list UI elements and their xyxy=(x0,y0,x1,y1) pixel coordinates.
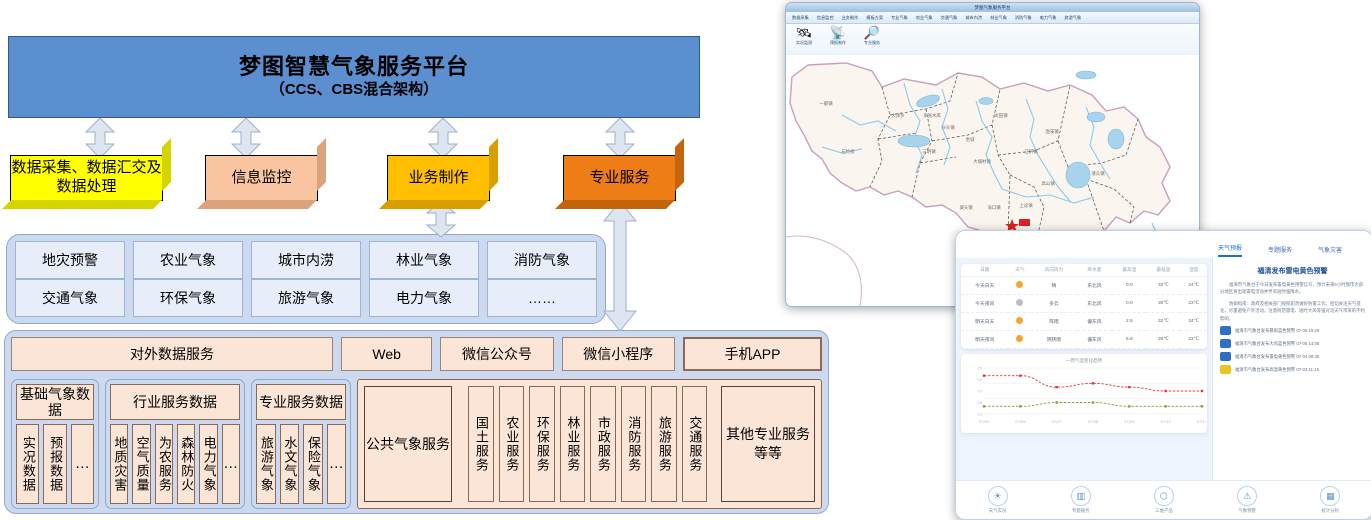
data-groups-row: 基础气象数据 实况数据 预报数据 … 行业服务数据 地质灾害 空气质量 为农服务… xyxy=(11,379,822,509)
nav-label: 气象预警 xyxy=(1238,508,1256,514)
tablet-left-column: 日期 天气 风向风力 降水量 最高温 最低温 湿度 今天白天 xyxy=(956,258,1212,481)
tab-special-service[interactable]: 专题服务 xyxy=(1268,245,1292,257)
satellite-icon: 🛰 xyxy=(796,26,813,39)
tablet-application-window[interactable]: 天气预报 专题服务 气象灾害 日期 天气 风向风力 降水量 最高温 xyxy=(955,230,1371,520)
rain-icon xyxy=(1016,317,1023,324)
service-cell[interactable]: 农业气象 xyxy=(133,241,243,279)
table-row[interactable]: 明天白天 阵雨 偏东风 2.5 32℃ 24℃ xyxy=(961,313,1207,331)
menu-item[interactable]: 业务制作 xyxy=(839,15,862,21)
column-header: 降水量 xyxy=(1077,264,1113,277)
cell-weather-icon xyxy=(1008,313,1031,331)
map-label: 沙头镇 xyxy=(941,124,955,131)
menu-item[interactable]: 消防气象 xyxy=(1012,15,1035,21)
nav-item-stats[interactable]: ▦ 统计分析 xyxy=(1320,486,1340,514)
data-group-industry: 行业服务数据 地质灾害 空气质量 为农服务 森林防火 电力气象 … xyxy=(105,379,245,509)
cell-weather: 阴转雨 xyxy=(1031,331,1076,349)
warning-list-item[interactable]: 福清市气象台发布雷电黄色预警 07-04 09:30 xyxy=(1220,352,1365,361)
data-group-professional: 专业服务数据 旅游气象 水文气象 保险气象 … xyxy=(251,379,351,509)
column-header: 最低温 xyxy=(1146,264,1180,277)
tab-weather-forecast[interactable]: 天气预报 xyxy=(1218,243,1242,257)
tablet-body: 日期 天气 风向风力 降水量 最高温 最低温 湿度 今天白天 xyxy=(956,258,1371,481)
cell-weather-icon xyxy=(1008,295,1031,313)
public-service-item[interactable]: 农业服务 xyxy=(499,386,525,502)
cell-low: 24℃ xyxy=(1180,277,1207,295)
service-cell[interactable]: 环保气象 xyxy=(133,279,243,317)
platform-title: 梦图智慧气象服务平台 xyxy=(239,54,469,79)
map-label: 上迳镇 xyxy=(1019,202,1033,209)
double-arrow-icon-4 xyxy=(601,118,639,158)
temperature-chart-card: 一周气温变化趋势 353229262307/0507/0607/0707/080… xyxy=(961,354,1207,433)
svg-text:32: 32 xyxy=(977,378,982,382)
toolbar-label: 专业服务 xyxy=(864,40,880,46)
svg-text:07/06: 07/06 xyxy=(1015,420,1026,424)
table-row[interactable]: 今天白天 晴 东北风 0.0 32℃ 24℃ xyxy=(961,277,1207,295)
cell-weather: 多云 xyxy=(1031,295,1076,313)
public-weather-service-box[interactable]: 公共气象服务 xyxy=(364,386,452,502)
svg-text:26: 26 xyxy=(977,401,982,405)
warning-badge-icon xyxy=(1220,365,1231,374)
map-window-titlebar: 梦图气象服务平台 xyxy=(786,3,1199,12)
channel-external-data-service[interactable]: 对外数据服务 xyxy=(11,337,333,371)
menu-item[interactable]: 林业气象 xyxy=(987,15,1010,21)
public-service-item[interactable]: 林业服务 xyxy=(560,386,586,502)
map-label: 东张水库 xyxy=(923,112,941,119)
cell-weather: 晴 xyxy=(1031,277,1076,295)
data-group-title: 专业服务数据 xyxy=(256,384,346,420)
cell-wind: 东北风 xyxy=(1077,295,1113,313)
tablet-tabbar: 天气预报 专题服务 气象灾害 xyxy=(956,231,1371,260)
service-domain-panel: 地灾预警 农业气象 城市内涝 林业气象 消防气象 交通气象 环保气象 旅游气象 … xyxy=(6,234,606,324)
alert-icon: ⚠ xyxy=(1237,486,1257,506)
data-item[interactable]: 预报数据 xyxy=(43,424,66,504)
public-service-item[interactable]: 旅游服务 xyxy=(651,386,677,502)
map-label: 海口镇 xyxy=(987,204,1001,211)
map-label: 龙田镇 xyxy=(994,112,1008,119)
warning-list-item[interactable]: 福清市气象台发布暴雨蓝色预警 07-05 16:20 xyxy=(1220,326,1365,335)
warning-list-item[interactable]: 福清市气象台发布高温黄色预警 07-03 11:15 xyxy=(1220,365,1365,374)
service-cell[interactable]: 城市内涝 xyxy=(251,241,361,279)
warning-panel: 福清发布雷电黄色预警 福清市气象台于今日发布雷电黄色预警信号，预计未来6小时我市… xyxy=(1212,258,1371,481)
warning-badge-icon xyxy=(1220,339,1231,348)
table-row[interactable]: 今天夜间 多云 东北风 0.0 30℃ 23℃ xyxy=(961,295,1207,313)
warning-item-text: 福清市气象台发布高温黄色预警 07-03 11:15 xyxy=(1235,367,1319,373)
toolbar-button-forecast[interactable]: 📡 预报制作 xyxy=(825,26,851,58)
radar-icon: 📡 xyxy=(830,26,846,39)
channel-row: 对外数据服务 Web 微信公众号 微信小程序 手机APP xyxy=(11,337,822,371)
data-item[interactable]: 森林防火 xyxy=(177,424,195,504)
map-label: 一都镇 xyxy=(819,100,833,107)
warning-list-item[interactable]: 福清市气象台发布大风蓝色预警 07-05 14:05 xyxy=(1220,339,1365,348)
nav-label: 统计分析 xyxy=(1322,508,1340,514)
column-header: 最高温 xyxy=(1112,264,1146,277)
map-label: 大埔村镇 xyxy=(973,158,991,165)
nav-label: 三维产品 xyxy=(1155,508,1173,514)
pillar-box-info-monitor[interactable]: 信息监控 xyxy=(205,155,318,201)
warning-paragraph: 防御指南：政府及相关部门按照职责做好防雷工作；密切关注天气变化，尽量避免户外活动… xyxy=(1220,300,1365,322)
forecast-table: 日期 天气 风向风力 降水量 最高温 最低温 湿度 今天白天 xyxy=(961,264,1207,349)
channel-web[interactable]: Web xyxy=(341,337,432,371)
warning-badge-icon xyxy=(1220,352,1231,361)
cell-date: 明天夜间 xyxy=(961,331,1008,349)
double-arrow-icon-1 xyxy=(81,118,119,158)
svg-text:23: 23 xyxy=(977,413,982,417)
nav-item-alert[interactable]: ⚠ 气象预警 xyxy=(1237,486,1257,514)
weather-sun-icon: ☀ xyxy=(988,486,1008,506)
data-item[interactable]: 旅游气象 xyxy=(256,424,276,504)
cell-precip: 0.0 xyxy=(1112,295,1146,313)
map-label: 三明镇 xyxy=(922,148,936,155)
menu-item[interactable]: 模板方案 xyxy=(863,15,886,21)
data-item[interactable]: 保险气象 xyxy=(303,424,323,504)
map-label: 石竹街 xyxy=(841,148,855,155)
warning-badge-icon xyxy=(1220,326,1231,335)
map-label: 大洋乡 xyxy=(891,112,904,119)
menu-item[interactable]: 电力气象 xyxy=(1037,15,1060,21)
menu-item[interactable]: 旅游气象 xyxy=(1061,15,1084,21)
svg-text:35: 35 xyxy=(977,367,982,371)
cell-wind: 偏东风 xyxy=(1077,313,1113,331)
forecast-table-card: 日期 天气 风向风力 降水量 最高温 最低温 湿度 今天白天 xyxy=(961,264,1207,349)
toolbar-label: 预报制作 xyxy=(830,40,846,46)
column-header: 日期 xyxy=(961,264,1008,277)
menu-item[interactable]: 信息监控 xyxy=(814,15,837,21)
menu-item[interactable]: 城市内涝 xyxy=(962,15,985,21)
double-arrow-icon-2 xyxy=(227,118,265,158)
public-service-item[interactable]: 市政服务 xyxy=(590,386,616,502)
data-item-more[interactable]: … xyxy=(327,424,347,504)
nav-item-weather[interactable]: ☀ 天气实况 xyxy=(988,486,1008,514)
pillar-label: 专业服务 xyxy=(589,169,649,188)
cloud-icon xyxy=(1016,299,1023,306)
map-label: 金城 xyxy=(966,136,975,143)
map-search-icon: 🔎 xyxy=(864,26,880,39)
pillar-label: 信息监控 xyxy=(231,169,291,188)
double-arrow-icon-3 xyxy=(424,118,462,158)
pillar-label: 业务制作 xyxy=(408,169,468,188)
cell-precip: 0.0 xyxy=(1112,277,1146,295)
service-cell[interactable]: 旅游气象 xyxy=(251,279,361,317)
tablet-bottom-nav: ☀ 天气实况 ▥ 专题服务 ⬡ 三维产品 ⚠ 气象预警 ▦ 统计分析 xyxy=(956,480,1371,519)
architecture-diagram: 梦图智慧气象服务平台 （CCS、CBS混合架构） 数据采集、数据汇交及数据处理 … xyxy=(0,0,840,520)
nav-item-3d[interactable]: ⬡ 三维产品 xyxy=(1154,486,1174,514)
public-service-item[interactable]: 环保服务 xyxy=(529,386,555,502)
map-label: 江阴镇 xyxy=(1024,148,1038,155)
pillar-box-data-collection[interactable]: 数据采集、数据汇交及数据处理 xyxy=(10,155,163,201)
cell-precip: 2.5 xyxy=(1112,313,1146,331)
cell-date: 今天夜间 xyxy=(961,295,1008,313)
nav-item-special[interactable]: ▥ 专题服务 xyxy=(1071,486,1091,514)
cell-high: 30℃ xyxy=(1146,295,1180,313)
data-group-items: 旅游气象 水文气象 保险气象 … xyxy=(256,424,346,504)
cell-low: 23℃ xyxy=(1180,331,1207,349)
service-cell[interactable]: 交通气象 xyxy=(15,279,125,317)
data-group-title: 基础气象数据 xyxy=(16,384,94,420)
platform-subtitle: （CCS、CBS混合架构） xyxy=(270,80,438,100)
service-row-1: 地灾预警 农业气象 城市内涝 林业气象 消防气象 xyxy=(15,241,597,279)
menu-item[interactable]: 交通气象 xyxy=(938,15,961,21)
cell-weather-icon xyxy=(1008,277,1031,295)
cell-high: 32℃ xyxy=(1146,313,1180,331)
toolbar-label: 实况监测 xyxy=(796,40,812,46)
data-group-title: 行业服务数据 xyxy=(110,384,240,420)
data-item-more[interactable]: … xyxy=(222,424,240,504)
screenshot-group: 梦图气象服务平台 数据采集 信息监控 业务制作 模板方案 专业气象 农业气象 交… xyxy=(783,0,1371,520)
data-item[interactable]: 地质灾害 xyxy=(110,424,128,504)
map-label: 港头镇 xyxy=(1091,170,1105,177)
city-icon: ▥ xyxy=(1071,486,1091,506)
map-label: 高山镇 xyxy=(1041,180,1055,187)
pillar-box-business-production[interactable]: 业务制作 xyxy=(387,155,490,201)
data-item[interactable]: 为农服务 xyxy=(155,424,173,504)
service-cell[interactable]: …… xyxy=(487,279,597,317)
toolbar-button-realtime[interactable]: 🛰 实况监测 xyxy=(791,26,817,58)
double-arrow-icon-long xyxy=(600,201,640,331)
public-service-item[interactable]: 交通服务 xyxy=(682,386,708,502)
data-item[interactable]: 空气质量 xyxy=(132,424,150,504)
data-item[interactable]: 电力气象 xyxy=(199,424,217,504)
tab-weather-disaster[interactable]: 气象灾害 xyxy=(1318,245,1342,257)
pillar-box-professional-service[interactable]: 专业服务 xyxy=(563,155,676,201)
column-header: 天气 xyxy=(1008,264,1031,277)
service-cell[interactable]: 消防气象 xyxy=(487,241,597,279)
public-service-group: 公共气象服务 国土服务 农业服务 环保服务 林业服务 市政服务 消防服务 旅游服… xyxy=(357,379,822,509)
svg-text:07/09: 07/09 xyxy=(1124,420,1135,424)
map-window-title: 梦图气象服务平台 xyxy=(975,5,1011,11)
data-group-items: 实况数据 预报数据 … xyxy=(16,424,94,504)
column-header: 湿度 xyxy=(1180,264,1207,277)
channel-wechat-miniprogram[interactable]: 微信小程序 xyxy=(562,337,675,371)
svg-text:29: 29 xyxy=(977,390,982,394)
cell-precip: 6.8 xyxy=(1112,331,1146,349)
cell-low: 24℃ xyxy=(1180,313,1207,331)
cell-date: 明天白天 xyxy=(961,313,1008,331)
svg-text:07/11: 07/11 xyxy=(1197,420,1206,424)
channel-wechat-official[interactable]: 微信公众号 xyxy=(440,337,553,371)
svg-text:07/07: 07/07 xyxy=(1051,420,1061,424)
menu-item[interactable]: 数据采集 xyxy=(789,15,812,21)
sun-icon xyxy=(1016,281,1023,288)
data-group-basic: 基础气象数据 实况数据 预报数据 … xyxy=(11,379,99,509)
data-item[interactable]: 水文气象 xyxy=(280,424,300,504)
nav-label: 专题服务 xyxy=(1072,508,1090,514)
sun-cloud-icon xyxy=(1016,335,1023,342)
nav-label: 天气实况 xyxy=(989,508,1007,514)
warning-paragraph: 福清市气象台于今日发布雷电黄色预警信号，预计未来6小时我市大部分地区将出现雷电活… xyxy=(1220,281,1365,296)
warning-title: 福清发布雷电黄色预警 xyxy=(1220,266,1365,276)
data-group-items: 地质灾害 空气质量 为农服务 森林防火 电力气象 … xyxy=(110,424,240,504)
warning-item-text: 福清市气象台发布雷电黄色预警 07-04 09:30 xyxy=(1235,354,1319,360)
svg-text:07/08: 07/08 xyxy=(1088,420,1099,424)
service-cell[interactable]: 地灾预警 xyxy=(15,241,125,279)
cell-high: 32℃ xyxy=(1146,277,1180,295)
service-cell[interactable]: 电力气象 xyxy=(369,279,479,317)
public-service-item[interactable]: 消防服务 xyxy=(621,386,647,502)
cell-weather-icon xyxy=(1008,331,1031,349)
cell-high: 30℃ xyxy=(1146,331,1180,349)
map-label: 城头镇 xyxy=(959,204,973,211)
map-menubar: 数据采集 信息监控 业务制作 模板方案 专业气象 农业气象 交通气象 城市内涝 … xyxy=(786,12,1199,24)
menu-item[interactable]: 农业气象 xyxy=(913,15,936,21)
chart-icon: ▦ xyxy=(1320,486,1340,506)
pillar-label: 数据采集、数据汇交及数据处理 xyxy=(11,159,162,197)
column-header: 风向风力 xyxy=(1031,264,1076,277)
svg-text:07/10: 07/10 xyxy=(1160,420,1171,424)
table-row[interactable]: 明天夜间 阴转雨 偏东风 6.8 30℃ 23℃ xyxy=(961,331,1207,349)
temperature-trend-chart: 353229262307/0507/0607/0707/0807/0907/10… xyxy=(966,364,1206,426)
warning-item-text: 福清市气象台发布暴雨蓝色预警 07-05 16:20 xyxy=(1235,328,1319,334)
table-header-row: 日期 天气 风向风力 降水量 最高温 最低温 湿度 xyxy=(961,264,1207,277)
service-row-2: 交通气象 环保气象 旅游气象 电力气象 …… xyxy=(15,279,597,317)
cell-wind: 偏东风 xyxy=(1077,331,1113,349)
cell-weather: 阵雨 xyxy=(1031,313,1076,331)
data-item[interactable]: 实况数据 xyxy=(16,424,39,504)
cell-date: 今天白天 xyxy=(961,277,1008,295)
cell-low: 23℃ xyxy=(1180,295,1207,313)
svg-text:07/05: 07/05 xyxy=(979,420,989,424)
data-item-more[interactable]: … xyxy=(71,424,94,504)
warning-item-text: 福清市气象台发布大风蓝色预警 07-05 14:05 xyxy=(1235,341,1319,347)
platform-banner: 梦图智慧气象服务平台 （CCS、CBS混合架构） xyxy=(8,36,700,118)
map-label: 渔溪镇 xyxy=(1045,128,1059,135)
menu-item[interactable]: 专业气象 xyxy=(888,15,911,21)
data-service-panel: 对外数据服务 Web 微信公众号 微信小程序 手机APP 基础气象数据 实况数据… xyxy=(4,330,829,514)
toolbar-button-service[interactable]: 🔎 专业服务 xyxy=(859,26,885,58)
service-cell[interactable]: 林业气象 xyxy=(369,241,479,279)
public-service-item[interactable]: 国土服务 xyxy=(468,386,494,502)
cell-wind: 东北风 xyxy=(1077,277,1113,295)
cube-icon: ⬡ xyxy=(1154,486,1174,506)
